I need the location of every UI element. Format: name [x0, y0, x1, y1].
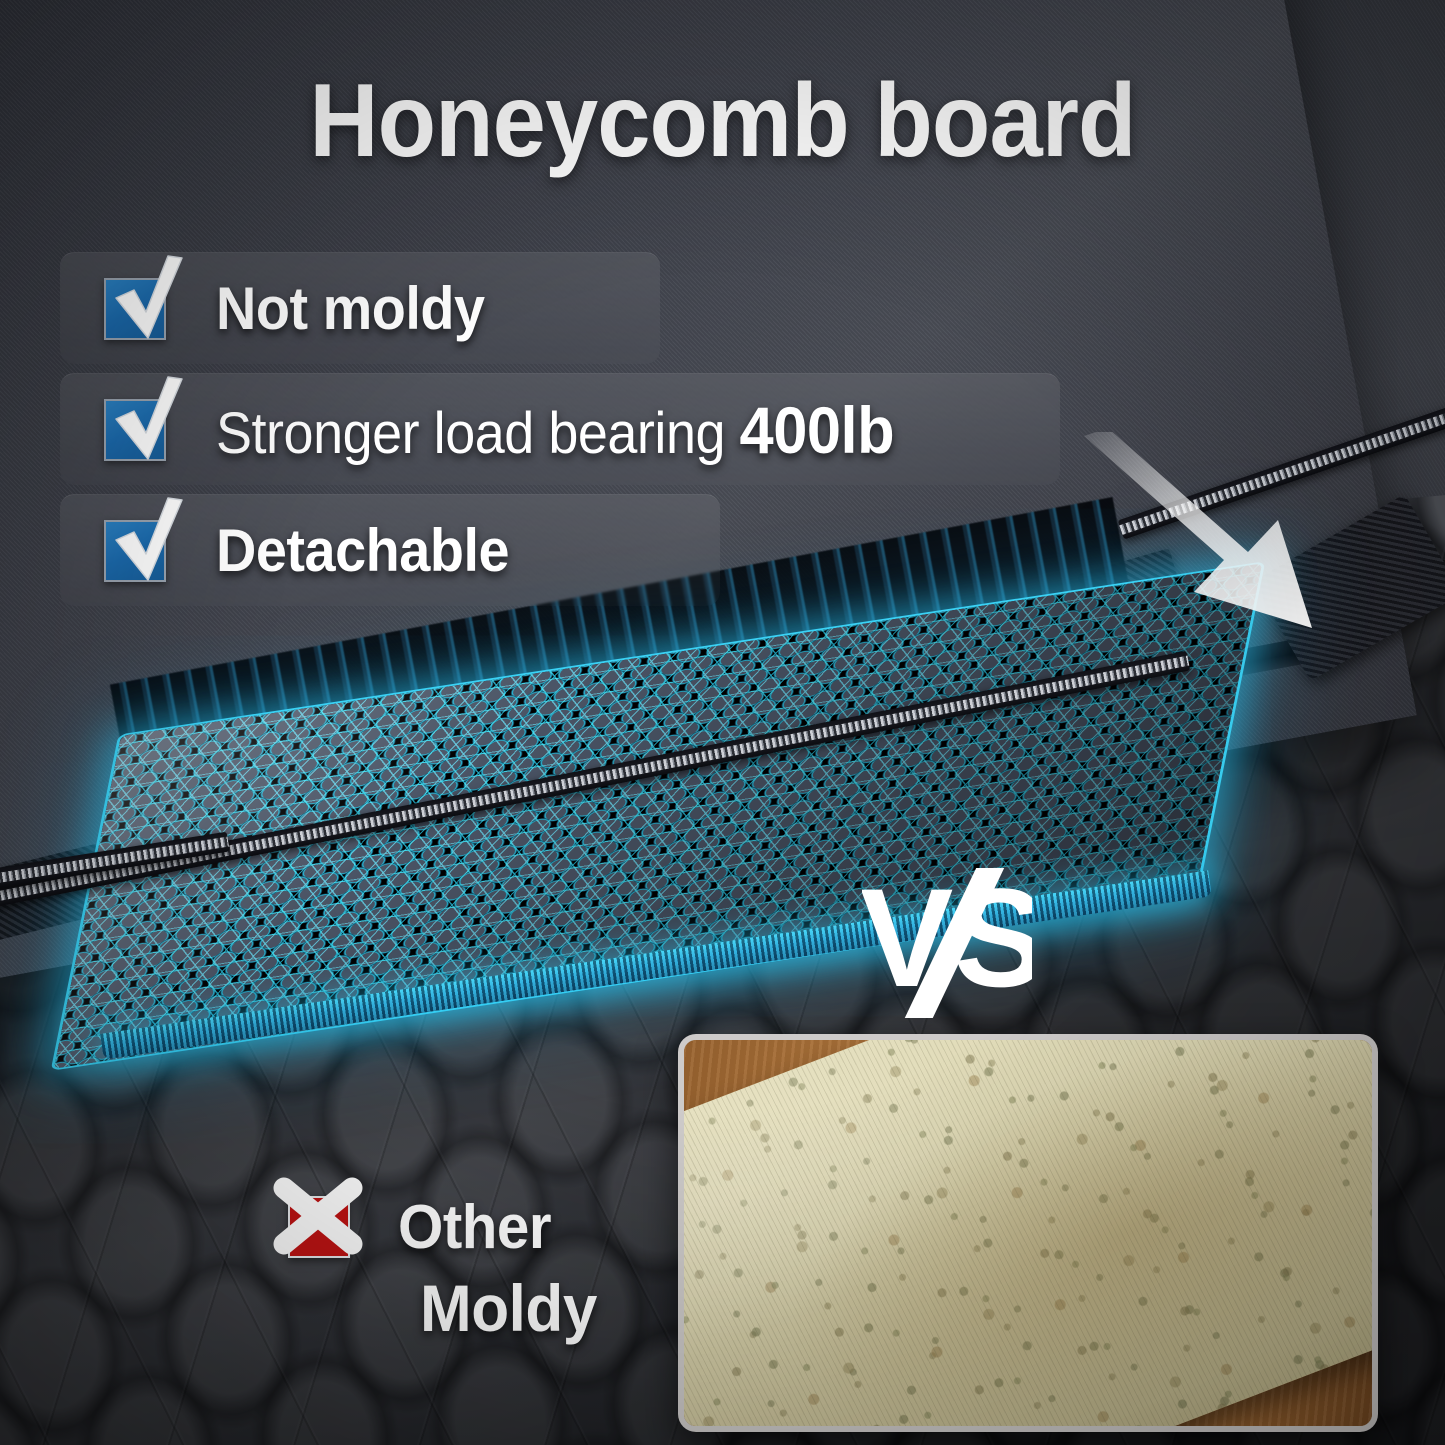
product-feature-image: VS Honeycomb board Not moldy Stronger lo…	[0, 0, 1445, 1445]
other-label: Other	[398, 1192, 551, 1263]
board-gloss	[54, 563, 1262, 1068]
feature-row-load-bearing: Stronger load bearing 400lb	[60, 373, 1060, 485]
feature-row-detachable: Detachable	[60, 494, 720, 606]
moldy-board-surface	[678, 1034, 1378, 1432]
checkmark-icon	[104, 278, 166, 340]
feature-list: Not moldy Stronger load bearing 400lb De…	[60, 252, 1060, 615]
feature-highlight: 400lb	[740, 393, 895, 467]
page-title: Honeycomb board	[58, 62, 1387, 181]
feature-label: Stronger load bearing	[216, 401, 740, 466]
feature-row-not-moldy: Not moldy	[60, 252, 660, 364]
cross-icon	[288, 1196, 350, 1258]
feature-label-wrap: Stronger load bearing 400lb	[216, 392, 894, 468]
checkmark-icon	[104, 399, 166, 461]
vs-badge: VS	[862, 868, 1032, 1018]
checkmark-icon	[104, 520, 166, 582]
honeycomb-board-image	[78, 556, 1238, 1076]
feature-label: Not moldy	[216, 274, 485, 343]
moldy-label: Moldy	[420, 1270, 597, 1346]
negative-comparison-label: Other Moldy	[288, 1196, 350, 1258]
feature-label: Detachable	[216, 516, 509, 585]
moldy-board-photo	[678, 1034, 1378, 1432]
